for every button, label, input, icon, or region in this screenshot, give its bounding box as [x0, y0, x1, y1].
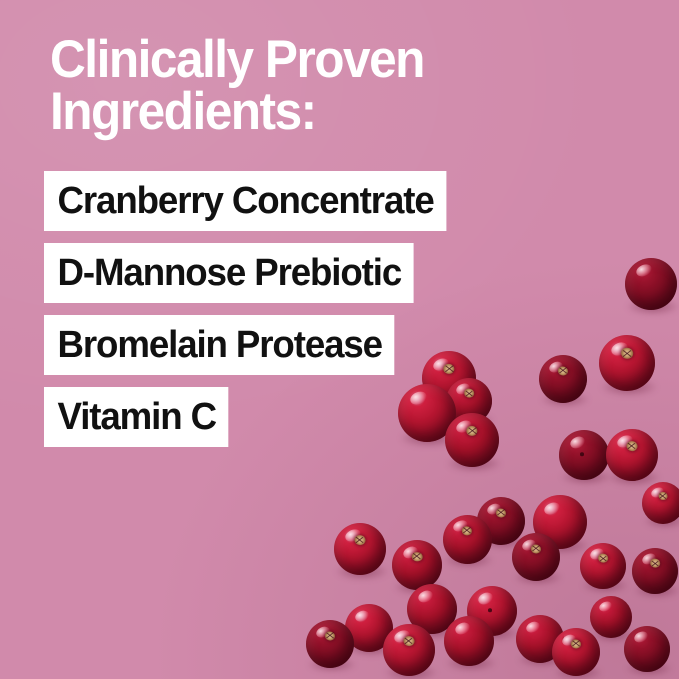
page-title: Clinically Proven Ingredients: — [50, 34, 424, 139]
ingredient-chip: Bromelain Protease — [44, 315, 395, 375]
promo-image-canvas: Clinically Proven Ingredients: Cranberry… — [0, 0, 679, 679]
ingredient-chip: Vitamin C — [44, 387, 229, 447]
ingredient-list: Cranberry ConcentrateD-Mannose Prebiotic… — [44, 171, 461, 447]
ingredient-chip: D-Mannose Prebiotic — [44, 243, 414, 303]
ingredient-chip: Cranberry Concentrate — [44, 171, 446, 231]
text-overlay: Clinically Proven Ingredients: Cranberry… — [0, 0, 679, 679]
